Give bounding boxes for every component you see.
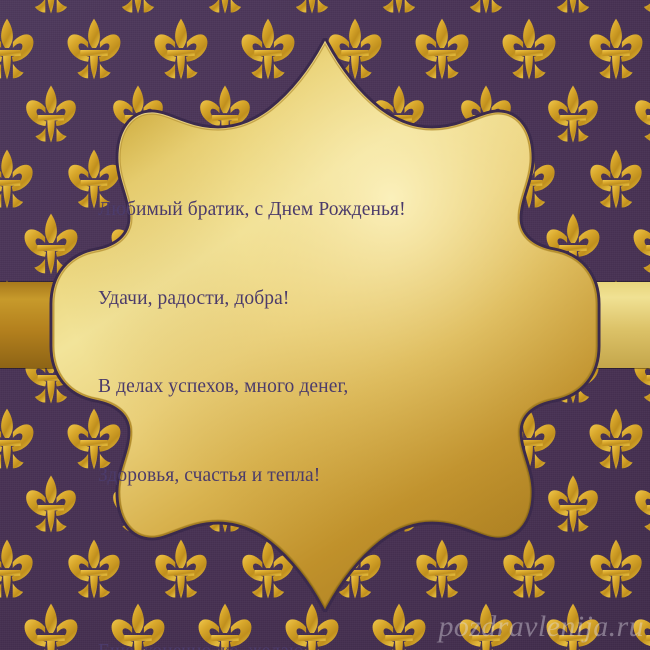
verse-line-2: Удачи, радости, добра!: [98, 284, 528, 314]
fleur-de-lis-icon: [198, 0, 251, 17]
fleur-de-lis-icon: [372, 0, 425, 17]
verse-line-3: В делах успехов, много денег,: [98, 372, 528, 402]
verse-line-5: Еще, конечно же, желаю: [98, 637, 528, 650]
verse-stanza-gap: [98, 549, 528, 578]
fleur-de-lis-icon: [0, 407, 34, 474]
fleur-de-lis-icon: [285, 0, 338, 17]
fleur-de-lis-icon: [0, 148, 34, 213]
fleur-de-lis-icon: [632, 212, 650, 279]
fleur-de-lis-icon: [111, 0, 164, 17]
fleur-de-lis-icon: [632, 602, 650, 650]
greeting-verse: Любимый братик, с Днем Рожденья! Удачи, …: [98, 136, 528, 650]
fleur-de-lis-icon: [0, 17, 34, 84]
greeting-card: Любимый братик, с Днем Рожденья! Удачи, …: [0, 0, 650, 650]
fleur-de-lis-icon: [546, 0, 599, 17]
verse-line-4: Здоровья, счастья и тепла!: [98, 461, 528, 491]
fleur-de-lis-icon: [633, 0, 650, 17]
fleur-de-lis-icon: [24, 0, 77, 17]
fleur-de-lis-icon: [634, 474, 650, 537]
fleur-de-lis-icon: [459, 0, 512, 17]
verse-line-1: Любимый братик, с Днем Рожденья!: [98, 195, 528, 225]
fleur-de-lis-icon: [634, 84, 650, 147]
fleur-de-lis-icon: [0, 538, 34, 603]
